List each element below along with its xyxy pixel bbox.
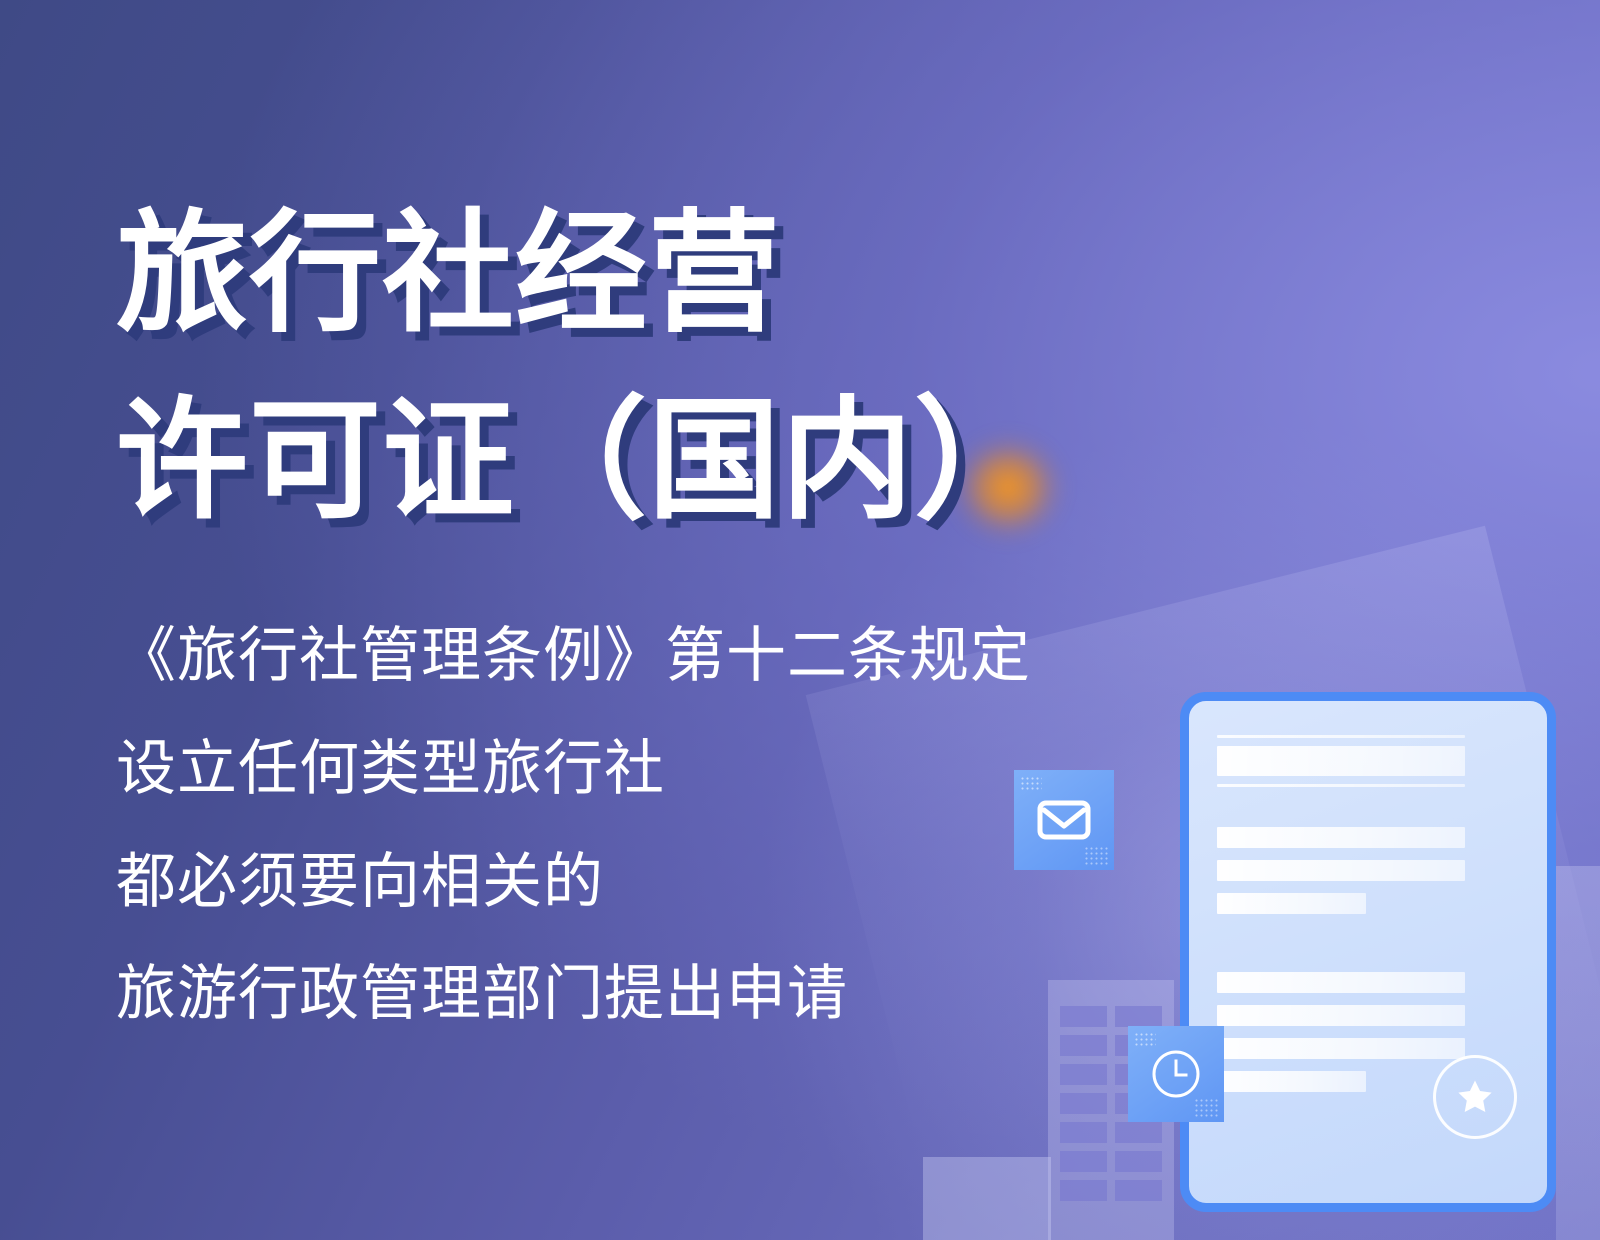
body-copy: 《旅行社管理条例》第十二条规定 设立任何类型旅行社 都必须要向相关的 旅游行政管… [116,600,1031,1051]
building-window [1115,1122,1162,1143]
document-line [1217,1071,1366,1092]
page-title: 旅行社经营 许可证（国内） [116,180,1047,555]
document-line [1217,784,1465,787]
document-line [1217,827,1465,848]
building-window [1060,1151,1107,1172]
document-line [1217,1005,1465,1026]
building-window [1060,1035,1107,1056]
body-copy-line-2: 设立任何类型旅行社 [116,713,1031,826]
building-window [1060,1180,1107,1201]
document-line [1217,1038,1465,1059]
building-window [1060,1006,1107,1027]
body-copy-line-1: 《旅行社管理条例》第十二条规定 [116,600,1031,713]
document-line [1217,735,1465,738]
building-window [1115,1180,1162,1201]
clock-icon [1148,1046,1204,1102]
building-window [1115,1006,1162,1027]
page-title-line-2: 许可证（国内） [116,367,1047,554]
page-title-line-1: 旅行社经营 [116,180,1047,367]
clock-tile [1128,1026,1224,1122]
building-window [1060,1122,1107,1143]
tile-dot-pattern [1134,1032,1156,1048]
document-text-lines [1217,735,1465,1104]
building-window [1060,1064,1107,1085]
body-copy-line-3: 都必须要向相关的 [116,826,1031,939]
poster-canvas: 旅行社经营 许可证（国内） 《旅行社管理条例》第十二条规定 设立任何类型旅行社 … [0,0,1600,1240]
body-copy-line-4: 旅游行政管理部门提出申请 [116,938,1031,1051]
star-icon [1433,1055,1517,1139]
document-line [1217,860,1465,881]
document-line [1217,972,1465,993]
tile-dot-pattern [1084,846,1110,866]
background-panel [1556,866,1600,1240]
office-building-annex [923,1157,1051,1240]
document-line [1217,893,1366,914]
building-window [1060,1093,1107,1114]
tile-dot-pattern [1194,1098,1220,1118]
certificate-document [1180,692,1556,1212]
document-line [1217,746,1465,776]
envelope-icon [1037,799,1091,841]
building-window [1115,1151,1162,1172]
